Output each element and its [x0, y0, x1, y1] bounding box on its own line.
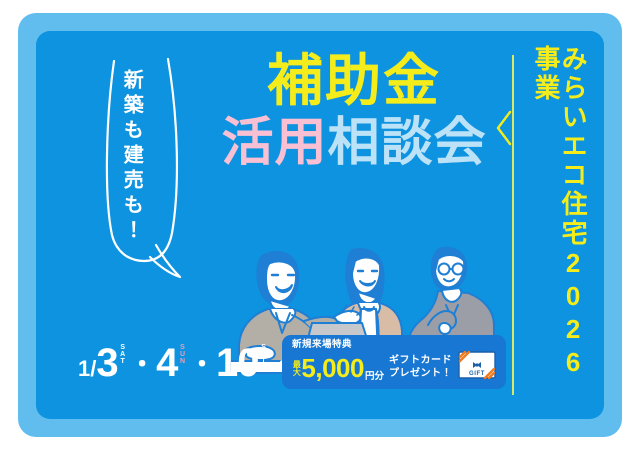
date-separator-1: ・: [129, 351, 155, 377]
badge-yen-label: 円分: [365, 368, 384, 384]
visitor-bonus-badge: 新規来場特典 最大 5,000 円分 ギフトカード プレゼント！: [282, 335, 506, 389]
badge-gift-text: ギフトカード プレゼント！: [389, 355, 452, 380]
headline-katsuyou: 活用: [221, 114, 327, 172]
badge-max-label: 最大: [292, 360, 300, 376]
headline-soudankai: 相談会: [328, 114, 487, 172]
program-name-text: みらいエコ住宅2026事業: [532, 45, 586, 401]
date-dow-1: SAT: [119, 344, 127, 365]
promo-banner: 新築も建売も！ 補助金 活用相談会 みらいエコ住宅2026事業: [0, 0, 640, 465]
date-dow-3: SAT: [259, 344, 267, 365]
banner-inner-panel: 新築も建売も！ 補助金 活用相談会 みらいエコ住宅2026事業: [36, 31, 604, 419]
badge-title: 新規来場特典: [292, 339, 498, 350]
speech-bubble-outline: [94, 47, 206, 287]
date-day-3: 10: [216, 343, 259, 383]
date-month: 1/: [78, 358, 96, 380]
badge-gift-line-1: ギフトカード: [389, 355, 452, 366]
badge-gift-line-2: プレゼント！: [389, 368, 452, 379]
headline-line-2: 活用相談会: [204, 117, 504, 169]
chevron-left-icon: [494, 109, 514, 147]
badge-amount: 5,000: [301, 355, 364, 381]
gift-card-icon: GIFT: [458, 351, 496, 384]
date-day-1: 3: [96, 343, 117, 383]
date-day-2: 4: [156, 343, 177, 383]
program-name-block: みらいエコ住宅2026事業: [494, 45, 586, 401]
svg-text:GIFT: GIFT: [469, 371, 485, 377]
date-dow-2: SUN: [178, 344, 186, 365]
date-separator-2: ・: [189, 351, 215, 377]
speech-bubble-text: 新築も建売も！: [120, 69, 141, 244]
headline-line-1: 補助金: [204, 53, 504, 109]
headline-group: 補助金 活用相談会: [204, 53, 504, 169]
badge-body: 最大 5,000 円分 ギフトカード プレゼント！ GIFT: [292, 351, 498, 384]
speech-bubble: 新築も建売も！: [94, 47, 206, 287]
program-divider-line: [512, 55, 514, 395]
